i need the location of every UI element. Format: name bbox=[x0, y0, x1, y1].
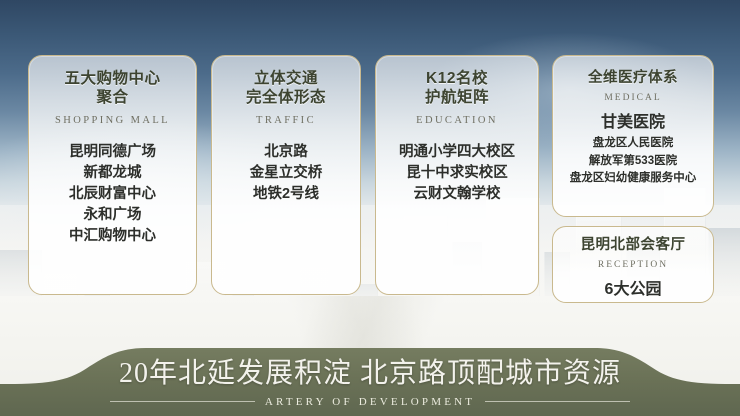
card-line: 盘龙区妇幼健康服务中心 bbox=[561, 170, 705, 188]
card-subtitle: TRAFFIC bbox=[220, 115, 352, 126]
card-line: 盘龙区人民医院 bbox=[561, 135, 705, 153]
card-title: K12名校 护航矩阵 bbox=[384, 70, 530, 108]
card-body: 北京路 金星立交桥 地铁2号线 bbox=[220, 142, 352, 205]
card-subtitle: EDUCATION bbox=[384, 115, 530, 126]
card-line: 解放军第533医院 bbox=[561, 153, 705, 171]
feature-card-shopping-mall[interactable]: 五大购物中心 聚合 SHOPPING MALL 昆明同德广场 新都龙城 北辰财富… bbox=[28, 55, 197, 295]
card-line: 北辰财富中心 bbox=[37, 184, 188, 205]
card-title: 全维医疗体系 bbox=[561, 70, 705, 88]
card-subtitle: SHOPPING MALL bbox=[37, 115, 188, 126]
card-lead: 甘美医院 bbox=[561, 111, 705, 135]
card-line: 中汇购物中心 bbox=[37, 226, 188, 247]
bottom-banner: 20年北延发展积淀 北京路顶配城市资源 ARTERY OF DEVELOPMEN… bbox=[0, 340, 740, 416]
feature-card-medical[interactable]: 全维医疗体系 MEDICAL 甘美医院 盘龙区人民医院 解放军第533医院 盘龙… bbox=[552, 55, 714, 217]
banner-subtitle: ARTERY OF DEVELOPMENT bbox=[265, 396, 475, 408]
card-line: 地铁2号线 bbox=[220, 184, 352, 205]
card-body: 6大公园 bbox=[561, 278, 705, 302]
card-title: 五大购物中心 聚合 bbox=[37, 70, 188, 108]
banner-title: 20年北延发展积淀 北京路顶配城市资源 bbox=[119, 351, 621, 391]
card-body: 甘美医院 盘龙区人民医院 解放军第533医院 盘龙区妇幼健康服务中心 bbox=[561, 111, 705, 188]
banner-rule-left bbox=[110, 401, 255, 402]
card-line: 永和广场 bbox=[37, 205, 188, 226]
card-line: 云财文翰学校 bbox=[384, 184, 530, 205]
card-lead: 6大公园 bbox=[561, 278, 705, 302]
card-line: 昆十中求实校区 bbox=[384, 163, 530, 184]
card-body: 明通小学四大校区 昆十中求实校区 云财文翰学校 bbox=[384, 142, 530, 205]
card-subtitle: MEDICAL bbox=[561, 93, 705, 103]
banner-subtitle-row: ARTERY OF DEVELOPMENT bbox=[110, 396, 630, 408]
card-title: 昆明北部会客厅 bbox=[561, 237, 705, 255]
card-line: 新都龙城 bbox=[37, 163, 188, 184]
card-body: 昆明同德广场 新都龙城 北辰财富中心 永和广场 中汇购物中心 bbox=[37, 142, 188, 247]
card-line: 金星立交桥 bbox=[220, 163, 352, 184]
card-subtitle: RECEPTION bbox=[561, 260, 705, 270]
feature-card-traffic[interactable]: 立体交通 完全体形态 TRAFFIC 北京路 金星立交桥 地铁2号线 bbox=[211, 55, 361, 295]
card-line: 明通小学四大校区 bbox=[384, 142, 530, 163]
card-line: 北京路 bbox=[220, 142, 352, 163]
feature-card-reception[interactable]: 昆明北部会客厅 RECEPTION 6大公园 bbox=[552, 226, 714, 303]
card-line: 昆明同德广场 bbox=[37, 142, 188, 163]
card-title: 立体交通 完全体形态 bbox=[220, 70, 352, 108]
feature-card-education[interactable]: K12名校 护航矩阵 EDUCATION 明通小学四大校区 昆十中求实校区 云财… bbox=[375, 55, 539, 295]
banner-rule-right bbox=[485, 401, 630, 402]
